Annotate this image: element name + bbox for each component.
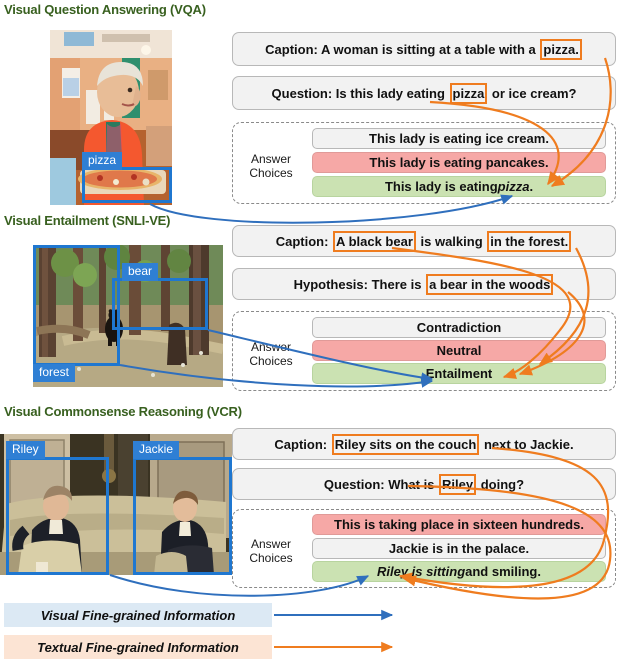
vcr-choice-2[interactable]: Riley is sitting and smiling. [312,561,606,582]
vcr-choice-0[interactable]: This is taking place in sixteen hundreds… [312,514,606,535]
vqa-question-suffix: or ice cream? [488,86,576,101]
vcr-question-highlight: Riley [439,474,476,495]
snli-hypothesis-prefix: Hypothesis: There is [294,277,425,292]
vqa-choice-2-italic: pizza [498,179,530,194]
snli-caption-highlight2: in the forest. [487,231,571,252]
vcr-choice-1-text: Jackie is in the palace. [389,541,529,556]
snli-choice-0-text: Contradiction [417,320,502,335]
snli-choice-0[interactable]: Contradiction [312,317,606,338]
vqa-bbox-pizza [82,167,172,203]
legend-textual: Textual Fine-grained Information [4,635,272,659]
snli-caption-box: Caption: A black bear is walking in the … [232,225,616,257]
snli-answer-label-line2: Choices [240,354,302,368]
vcr-choice-0-text: This is taking place in sixteen hundreds… [334,517,584,532]
snli-answer-label-line1: Answer [240,340,302,354]
vqa-question-prefix: Question: Is this lady eating [272,86,449,101]
snli-bbox-forest [33,245,120,366]
snli-caption-middle: is walking [417,234,486,249]
vcr-question-box: Question: What is Riley doing? [232,468,616,500]
vcr-bbox-riley [6,457,109,575]
vcr-question-prefix: Question: What is [324,477,438,492]
snli-caption-prefix: Caption: [276,234,332,249]
vcr-caption-suffix: next to Jackie. [480,437,573,452]
vqa-bbox-label-pizza: pizza [82,152,122,170]
vqa-choice-2-tail: . [529,179,533,194]
vqa-question-box: Question: Is this lady eating pizza or i… [232,76,616,110]
legend-visual-label: Visual Fine-grained Information [41,608,236,623]
figure-root: Visual Question Answering (VQA) [0,0,618,662]
snli-hypothesis-box: Hypothesis: There is a bear in the woods [232,268,616,300]
vqa-choice-2[interactable]: This lady is eating pizza. [312,176,606,197]
vqa-answer-choices-label: Answer Choices [240,152,302,180]
snli-caption-highlight: A black bear [333,231,416,252]
vqa-question-highlight: pizza [450,83,488,104]
snli-choice-2-text: Entailment [426,366,492,381]
vcr-question-suffix: doing? [477,477,524,492]
vcr-choice-2-italic: Riley is sitting [377,564,465,579]
section-title-vcr: Visual Commonsense Reasoning (VCR) [4,404,242,419]
snli-bbox-label-bear: bear [122,263,158,281]
vcr-answer-choices-label: Answer Choices [240,537,302,565]
section-title-snli: Visual Entailment (SNLI-VE) [4,213,170,228]
legend-textual-label: Textual Fine-grained Information [37,640,239,655]
snli-answer-choices-label: Answer Choices [240,340,302,368]
legend-arrows [272,598,412,662]
legend-visual: Visual Fine-grained Information [4,603,272,627]
vcr-bbox-jackie [133,457,232,575]
section-title-vqa: Visual Question Answering (VQA) [4,2,206,17]
vqa-choice-0[interactable]: This lady is eating ice cream. [312,128,606,149]
snli-bbox-bear [112,278,208,330]
vcr-bbox-label-jackie: Jackie [133,441,179,459]
snli-hypothesis-highlight: a bear in the woods [426,274,553,295]
vcr-bbox-label-riley: Riley [6,441,45,459]
vcr-caption-highlight: Riley sits on the couch [332,434,480,455]
vcr-answer-label-line1: Answer [240,537,302,551]
snli-choice-2[interactable]: Entailment [312,363,606,384]
snli-bbox-label-forest: forest [33,364,75,382]
vcr-answer-label-line2: Choices [240,551,302,565]
vqa-answer-label-line2: Choices [240,166,302,180]
snli-choice-1-text: Neutral [437,343,482,358]
snli-choice-1[interactable]: Neutral [312,340,606,361]
vcr-choice-1[interactable]: Jackie is in the palace. [312,538,606,559]
vcr-choice-2-tail: and smiling. [465,564,541,579]
vqa-choice-1-text: This lady is eating pancakes. [369,155,548,170]
vqa-answer-label-line1: Answer [240,152,302,166]
vqa-caption-box: Caption: A woman is sitting at a table w… [232,32,616,66]
vcr-caption-box: Caption: Riley sits on the couch next to… [232,428,616,460]
vqa-caption-highlight: pizza. [540,39,581,60]
vcr-caption-prefix: Caption: [274,437,330,452]
vqa-caption-prefix: Caption: A woman is sitting at a table w… [265,42,539,57]
vqa-choice-1[interactable]: This lady is eating pancakes. [312,152,606,173]
vqa-choice-2-text: This lady is eating [385,179,498,194]
vqa-choice-0-text: This lady is eating ice cream. [369,131,549,146]
